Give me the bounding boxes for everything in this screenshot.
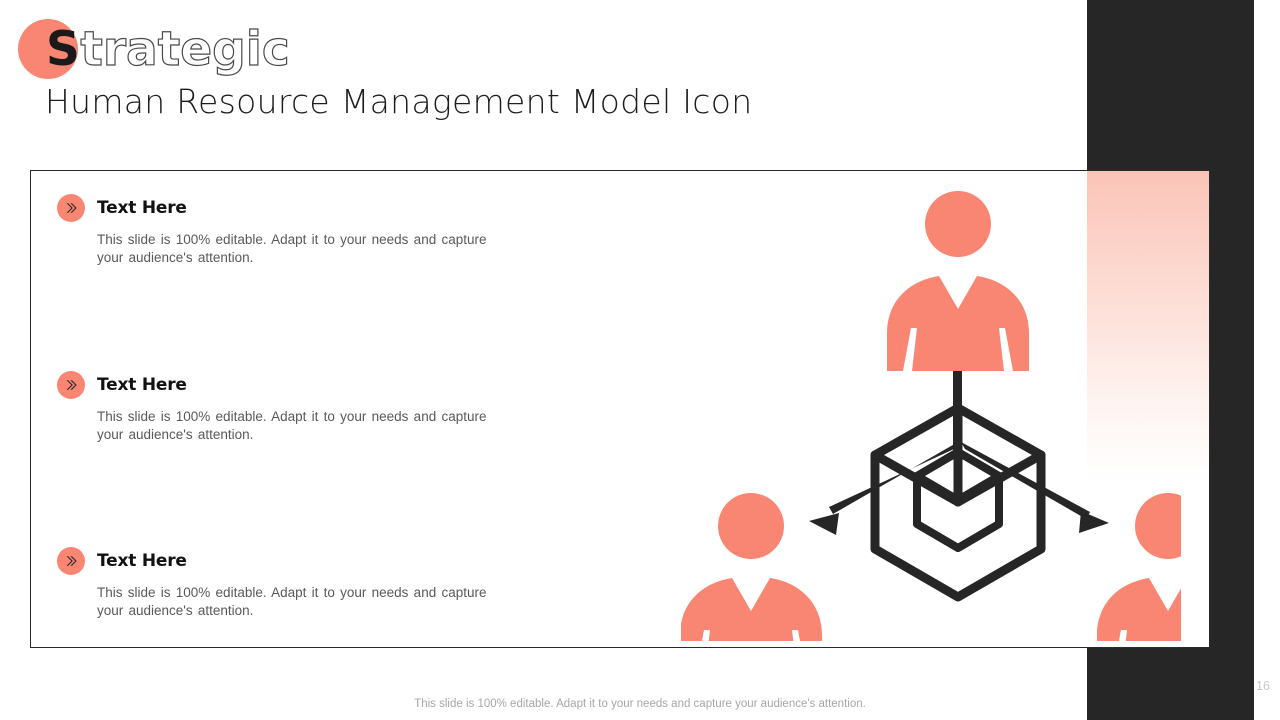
content-panel: Text Here This slide is 100% editable. A… — [30, 170, 1210, 648]
list-item-title: Text Here — [97, 375, 187, 395]
list-item-body: This slide is 100% editable. Adapt it to… — [97, 231, 517, 267]
chevron-right-icon — [57, 547, 85, 575]
logo-initial: S — [46, 22, 80, 77]
inner-cube-icon — [917, 452, 999, 548]
footer-note: This slide is 100% editable. Adapt it to… — [0, 698, 1280, 710]
hr-management-model-icon — [681, 181, 1181, 641]
list-item[interactable]: Text Here This slide is 100% editable. A… — [57, 371, 577, 444]
list-item-title: Text Here — [97, 198, 187, 218]
chevron-right-icon — [57, 371, 85, 399]
bullet-header: Text Here — [57, 547, 577, 575]
list-item[interactable]: Text Here This slide is 100% editable. A… — [57, 547, 577, 620]
person-bottom-right-icon — [1097, 493, 1181, 641]
logo-wordmark: Strategic — [46, 16, 290, 82]
brand-logo: Strategic — [16, 16, 316, 82]
list-item-body: This slide is 100% editable. Adapt it to… — [97, 408, 517, 444]
person-bottom-left-icon — [681, 493, 822, 641]
slide-canvas: Strategic Human Resource Management Mode… — [0, 0, 1280, 720]
page-title: Human Resource Management Model Icon — [45, 82, 752, 121]
person-top-icon — [887, 191, 1029, 371]
list-item-title: Text Here — [97, 551, 187, 571]
list-item-body: This slide is 100% editable. Adapt it to… — [97, 584, 517, 620]
chevron-right-icon — [57, 194, 85, 222]
list-item[interactable]: Text Here This slide is 100% editable. A… — [57, 194, 577, 267]
bullet-header: Text Here — [57, 371, 577, 399]
logo-rest-text: trategic — [80, 22, 289, 77]
bullet-header: Text Here — [57, 194, 577, 222]
page-number: 16 — [1256, 679, 1270, 693]
